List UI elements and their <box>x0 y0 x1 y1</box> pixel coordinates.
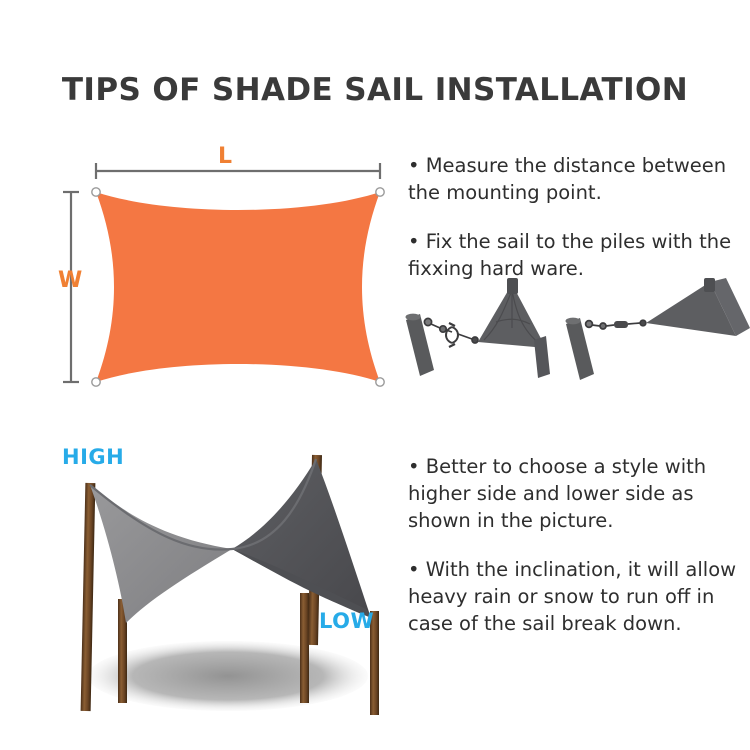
bottom-section: HIGH LOW • Better to choose a style with… <box>0 425 750 735</box>
page-title: TIPS OF SHADE SAIL INSTALLATION <box>0 72 750 108</box>
turnbuckle-hardware-icon-2 <box>586 320 646 329</box>
length-dimension-line <box>96 163 380 179</box>
top-section: L W <box>0 130 750 415</box>
length-label: L <box>218 144 232 169</box>
rectangular-sail-diagram: L W <box>58 138 408 408</box>
sail-panel-dark <box>232 459 370 615</box>
low-label: LOW <box>319 609 374 633</box>
width-label: W <box>58 268 82 293</box>
tip-choose-style: • Better to choose a style with higher s… <box>408 453 750 534</box>
bottom-tips-text: • Better to choose a style with higher s… <box>408 453 750 673</box>
sail-panel-light <box>90 485 232 623</box>
post-rear-right <box>300 593 309 703</box>
top-tips-text: • Measure the distance between the mount… <box>408 152 750 302</box>
turnbuckle-hardware-icon <box>424 318 478 347</box>
hypar-sail-svg <box>32 433 412 733</box>
tip-measure-distance: • Measure the distance between the mount… <box>408 152 750 206</box>
infographic-page: TIPS OF SHADE SAIL INSTALLATION <box>0 0 750 750</box>
rectangular-sail-svg <box>58 138 408 408</box>
tip-inclination-runoff: • With the inclination, it will allow he… <box>408 556 750 637</box>
high-label: HIGH <box>62 445 124 469</box>
hypar-sail-diagram: HIGH LOW <box>32 433 412 733</box>
ground-shadow <box>88 641 368 711</box>
sail-body <box>96 192 380 382</box>
tip-fix-sail-to-piles: • Fix the sail to the piles with the fix… <box>408 228 750 282</box>
